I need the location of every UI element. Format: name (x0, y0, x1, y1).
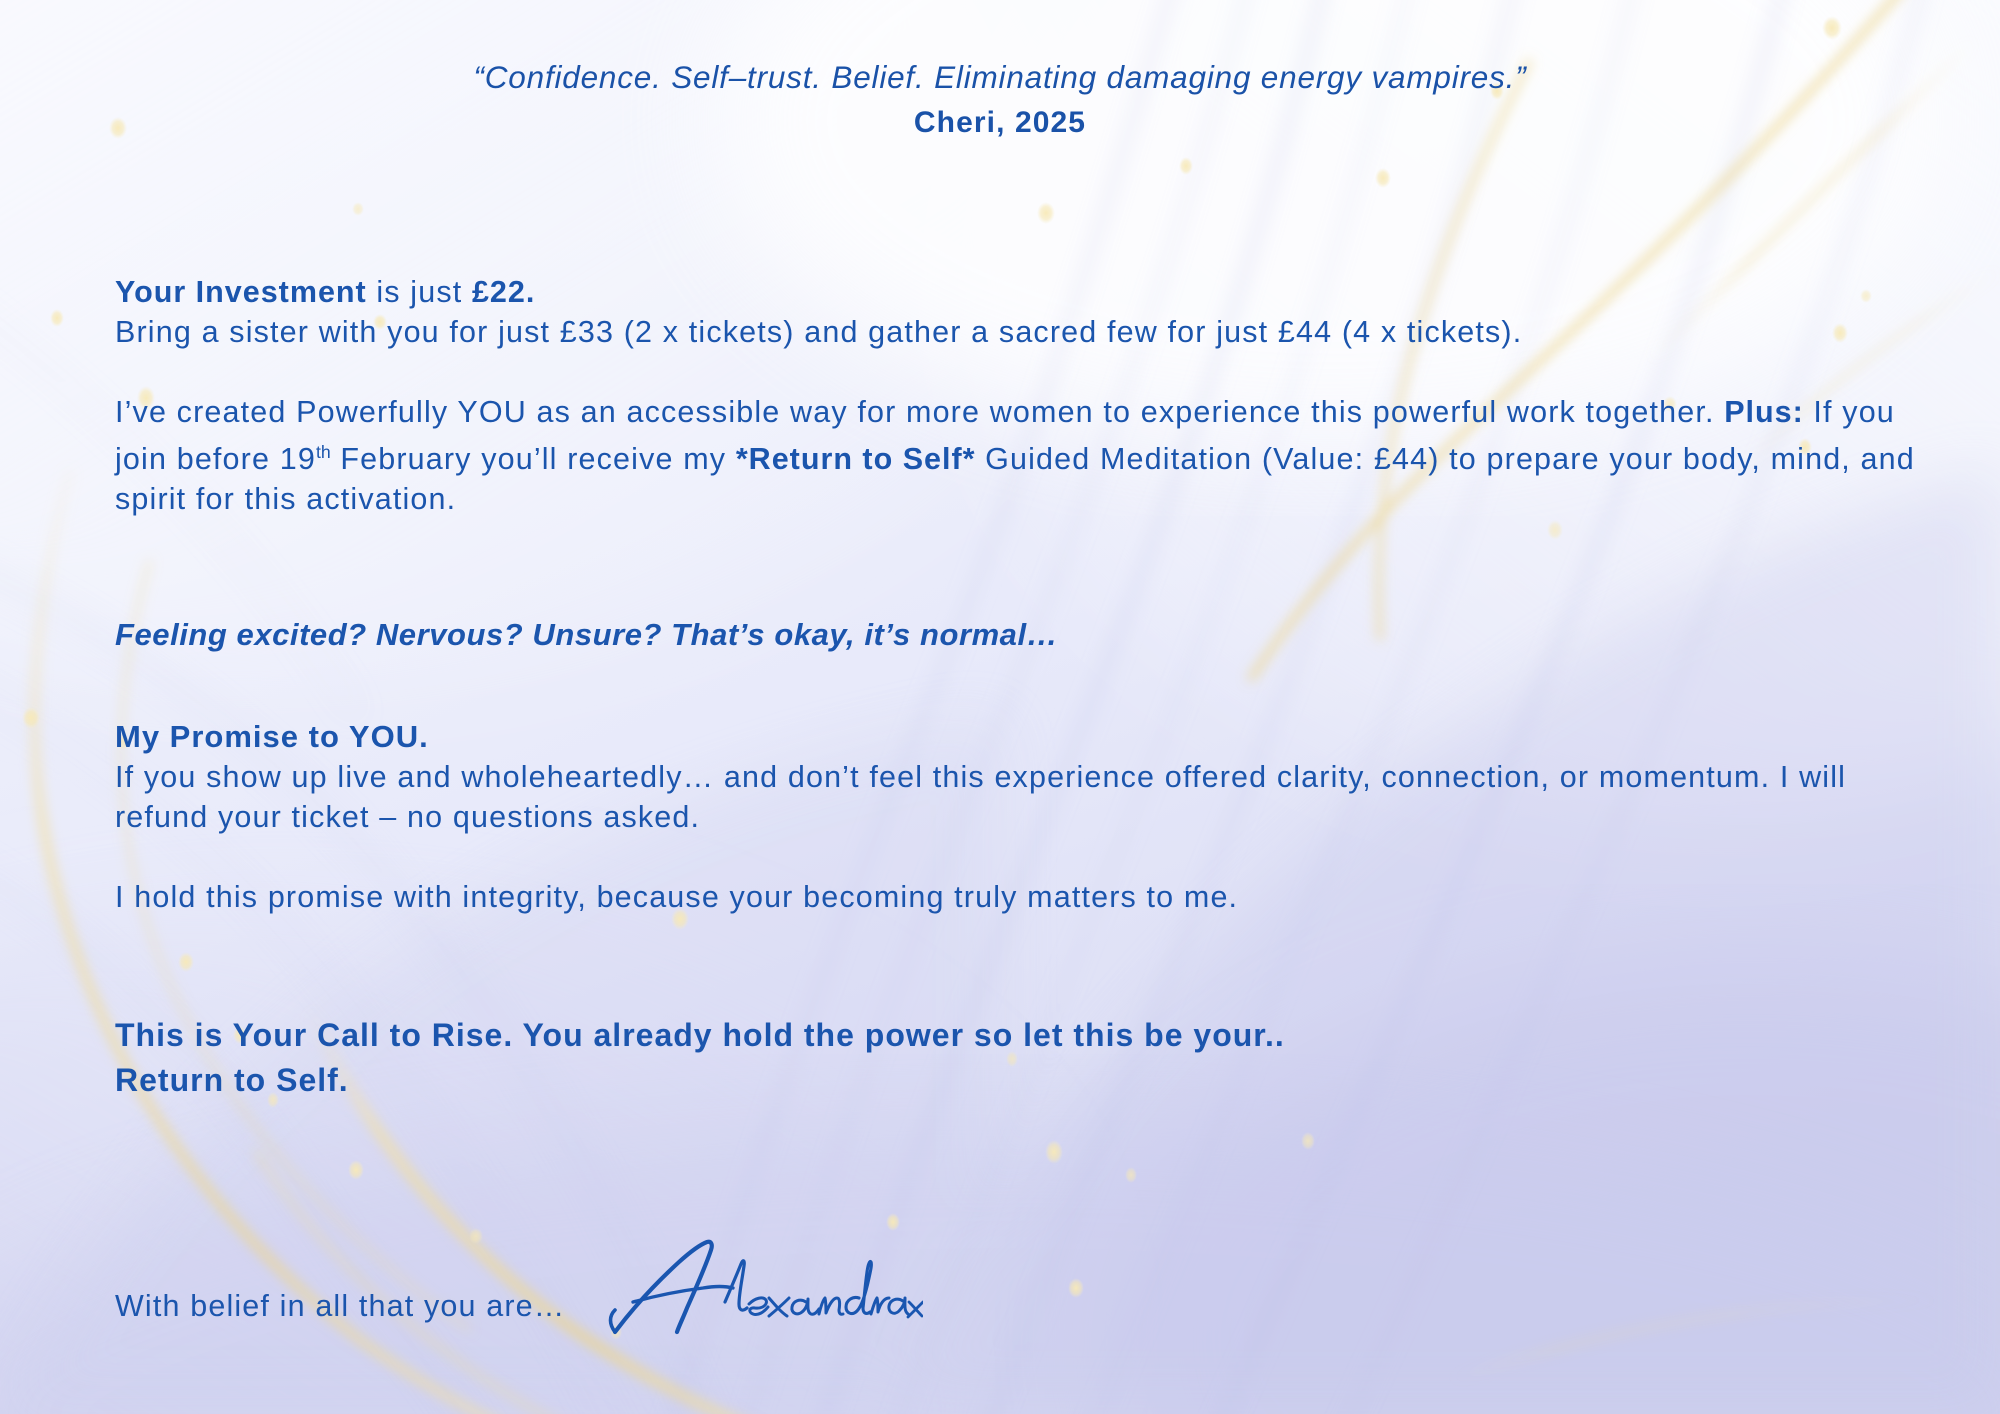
investment-paragraph: Your Investment is just £22. Bring a sis… (115, 272, 1915, 352)
cta-block: This is Your Call to Rise. You already h… (115, 1013, 1915, 1103)
offer-paragraph: I’ve created Powerfully YOU as an access… (115, 392, 1915, 519)
signoff-text: With belief in all that you are… (115, 1278, 565, 1326)
cta-line-1: This is Your Call to Rise. You already h… (115, 1017, 1285, 1053)
cta-line-2: Return to Self. (115, 1062, 349, 1098)
offer-part-1: I’ve created Powerfully YOU as an access… (115, 395, 1724, 429)
spacer (115, 837, 1915, 877)
promise-heading: My Promise to YOU. (115, 717, 1915, 757)
investment-label: Your Investment (115, 275, 367, 309)
spacer (115, 519, 1915, 615)
offer-ordinal-suffix: th (316, 442, 331, 462)
investment-tiers: Bring a sister with you for just £33 (2 … (115, 315, 1522, 349)
feelings-heading: Feeling excited? Nervous? Unsure? That’s… (115, 615, 1915, 655)
spacer (115, 917, 1915, 1013)
poster-content: “Confidence. Self–trust. Belief. Elimina… (0, 0, 2000, 1414)
spacer (115, 352, 1915, 392)
body-copy: Your Investment is just £22. Bring a sis… (115, 272, 1915, 1103)
signature (603, 1236, 923, 1351)
promise-body: If you show up live and wholeheartedly… … (115, 757, 1915, 837)
investment-price: £22. (472, 275, 535, 309)
signature-icon (603, 1236, 923, 1346)
offer-part-3: February you’ll receive my (331, 442, 736, 476)
promise-integrity: I hold this promise with integrity, beca… (115, 877, 1915, 917)
offer-bonus-name: *Return to Self* (736, 442, 976, 476)
investment-connector: is just (367, 275, 472, 309)
testimonial-block: “Confidence. Self–trust. Belief. Elimina… (0, 56, 2000, 144)
offer-plus-label: Plus: (1724, 395, 1804, 429)
spacer (115, 655, 1915, 717)
testimonial-attribution: Cheri, 2025 (0, 102, 2000, 144)
signoff-row: With belief in all that you are… (115, 1278, 923, 1351)
testimonial-quote: “Confidence. Self–trust. Belief. Elimina… (0, 56, 2000, 99)
